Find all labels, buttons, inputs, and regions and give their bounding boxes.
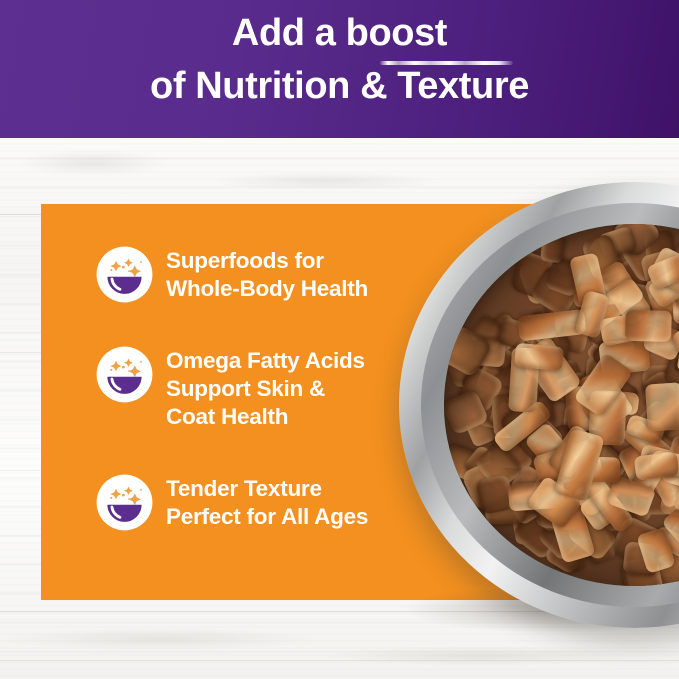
header-banner: Add a boost of Nutrition & Texture	[0, 0, 679, 138]
benefit-line: Coat Health	[166, 403, 365, 431]
headline-line-1-text: Add a boost	[232, 12, 447, 54]
meaty-chunk-piece	[645, 382, 679, 431]
meaty-chunk-piece	[514, 343, 564, 371]
dog-food-bowl-photo	[399, 182, 679, 628]
kibble-piece	[540, 232, 565, 263]
promo-image-canvas: Add a boost of Nutrition & Texture	[0, 0, 679, 679]
headline-line-1: Add a boost	[232, 14, 447, 52]
benefit-line: Tender Texture	[166, 475, 368, 503]
headline-line-2: of Nutrition & Texture	[0, 67, 679, 105]
benefit-line: Perfect for All Ages	[166, 503, 368, 531]
benefit-line: Omega Fatty Acids	[166, 347, 365, 375]
benefit-text: Superfoods for Whole-Body Health	[166, 244, 368, 304]
brush-underline-accent	[380, 61, 513, 65]
meaty-chunk-piece	[624, 309, 671, 342]
sparkling-bowl-icon	[96, 346, 153, 403]
benefit-line: Superfoods for	[166, 247, 368, 275]
benefit-line: Whole-Body Health	[166, 275, 368, 303]
sparkling-bowl-icon	[96, 246, 153, 303]
benefit-text: Tender Texture Perfect for All Ages	[166, 472, 368, 532]
benefit-line: Support Skin &	[166, 375, 365, 403]
benefit-text: Omega Fatty Acids Support Skin & Coat He…	[166, 344, 365, 432]
sparkling-bowl-icon	[96, 474, 153, 531]
